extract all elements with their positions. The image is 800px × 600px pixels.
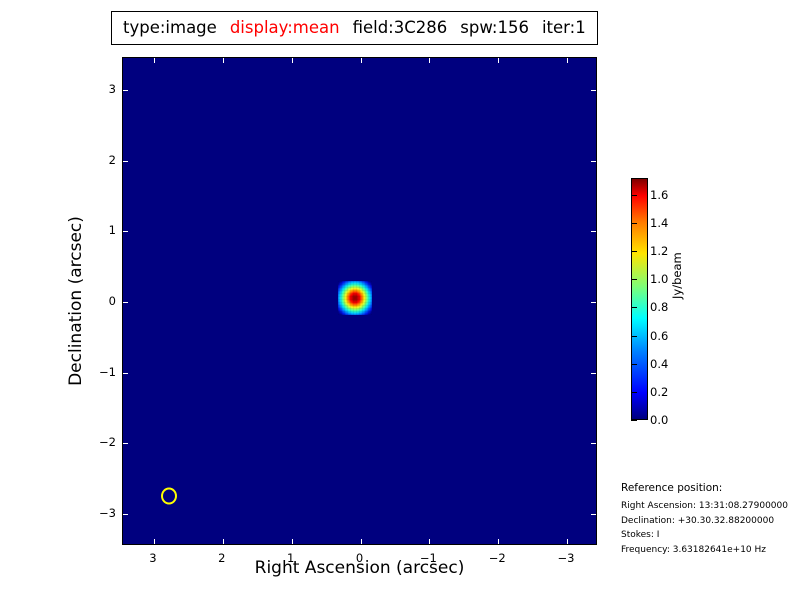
colorbar-tick-label: 0.6 (650, 329, 668, 343)
colorbar-tick-label: 0.8 (650, 300, 668, 314)
y-tick-mark (123, 161, 128, 162)
y-tick-mark (123, 90, 128, 91)
colorbar-tick-label: 0.4 (650, 357, 668, 371)
colorbar-tick-label: 1.6 (650, 188, 668, 202)
y-tick-label: 0 (92, 294, 116, 308)
plot-title-box: type:image display:mean field:3C286 spw:… (111, 11, 598, 45)
colorbar-tick-mark (631, 223, 637, 224)
x-tick-mark (154, 539, 155, 544)
colorbar-tick-mark (631, 392, 637, 393)
x-axis-label: Right Ascension (arcsec) (122, 558, 597, 578)
reference-position-line: Declination: +30.30.32.88200000 (621, 514, 800, 529)
y-tick-mark (123, 231, 128, 232)
y-tick-mark (591, 231, 596, 232)
y-tick-label: 1 (92, 223, 116, 237)
x-tick-mark (567, 539, 568, 544)
central-point-source (338, 281, 372, 315)
reference-position-line: Frequency: 3.63182641e+10 Hz (621, 543, 800, 558)
colorbar-tick-mark (631, 251, 637, 252)
beam-ellipse-indicator (161, 488, 177, 505)
colorbar-tick-mark (631, 420, 637, 421)
y-tick-mark (591, 514, 596, 515)
reference-position-lines: Right Ascension: 13:31:08.27900000Declin… (621, 499, 800, 557)
x-tick-mark (292, 58, 293, 63)
x-tick-mark (292, 539, 293, 544)
x-tick-mark (567, 58, 568, 63)
y-tick-mark (123, 514, 128, 515)
title-field-display: display:mean (230, 20, 340, 37)
x-tick-mark (361, 539, 362, 544)
y-tick-mark (123, 302, 128, 303)
reference-position-line: Right Ascension: 13:31:08.27900000 (621, 499, 800, 514)
x-tick-mark (223, 539, 224, 544)
y-tick-mark (591, 90, 596, 91)
colorbar-tick-mark (631, 307, 637, 308)
y-tick-mark (123, 373, 128, 374)
x-tick-mark (361, 58, 362, 63)
y-tick-label: −3 (92, 506, 116, 520)
title-field-type: type:image (123, 20, 217, 37)
y-tick-label: −1 (92, 365, 116, 379)
colorbar-tick-label: 1.0 (650, 272, 668, 286)
y-tick-label: 2 (92, 153, 116, 167)
x-tick-mark (154, 58, 155, 63)
colorbar-tick-mark (631, 279, 637, 280)
colorbar-tick-label: 1.4 (650, 216, 668, 230)
y-tick-mark (591, 443, 596, 444)
colorbar-unit-label: Jy/beam (670, 252, 684, 299)
title-field-field: field:3C286 (353, 20, 448, 37)
reference-position-line: Stokes: I (621, 528, 800, 543)
image-plot-area[interactable] (122, 57, 597, 545)
title-field-iter: iter:1 (542, 20, 586, 37)
y-tick-mark (591, 302, 596, 303)
colorbar-tick-label: 1.2 (650, 244, 668, 258)
x-tick-mark (223, 58, 224, 63)
title-field-spw: spw:156 (460, 20, 529, 37)
y-tick-label: 3 (92, 82, 116, 96)
x-tick-mark (498, 539, 499, 544)
x-tick-mark (498, 58, 499, 63)
colorbar-tick-mark (631, 336, 637, 337)
y-tick-mark (591, 373, 596, 374)
y-tick-mark (591, 161, 596, 162)
colorbar-tick-mark (631, 195, 637, 196)
x-tick-mark (429, 539, 430, 544)
reference-position-block: Reference position: Right Ascension: 13:… (621, 482, 800, 557)
y-tick-label: −2 (92, 435, 116, 449)
colorbar (631, 178, 648, 420)
x-tick-mark (429, 58, 430, 63)
y-axis-label: Declination (arcsec) (66, 151, 86, 451)
colorbar-tick-label: 0.2 (650, 385, 668, 399)
colorbar-tick-label: 0.0 (650, 413, 668, 427)
reference-position-title: Reference position: (621, 482, 800, 494)
y-tick-mark (123, 443, 128, 444)
colorbar-tick-mark (631, 364, 637, 365)
